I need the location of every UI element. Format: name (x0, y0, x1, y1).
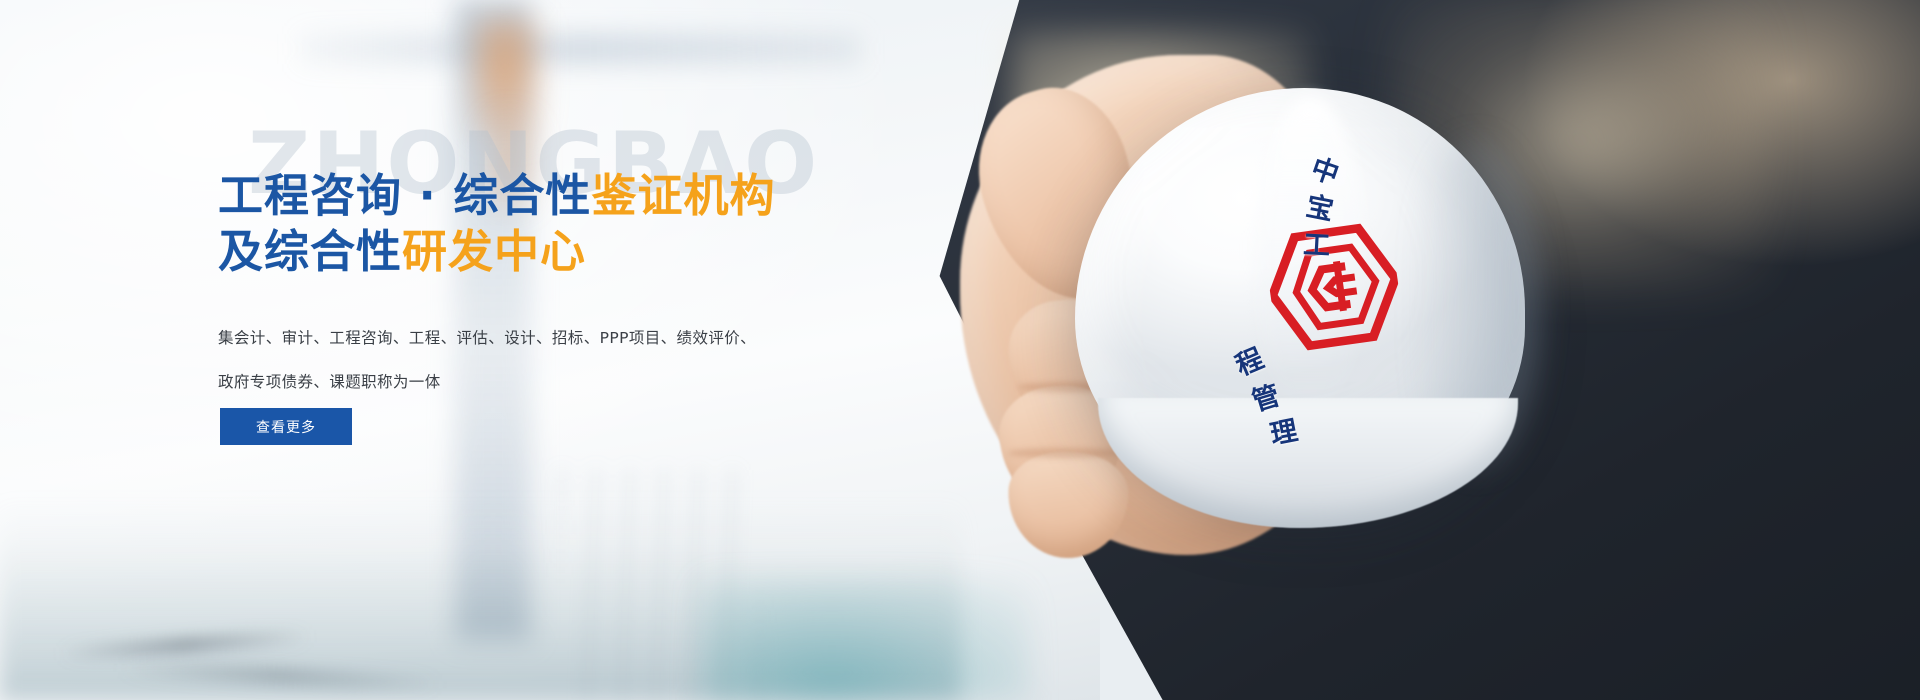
headline-line-1-orange: 鉴证机构 (591, 169, 775, 222)
hat-char-1: 宝 (1303, 184, 1337, 227)
view-more-button[interactable]: 查看更多 (220, 408, 352, 445)
hat-char-5: 理 (1266, 408, 1300, 451)
headline-line-2: 及综合性研发中心 (218, 224, 775, 280)
subtitle-line-2: 政府专项债券、课题职称为一体 (218, 360, 756, 404)
headline-line-1-blue: 工程咨询 · 综合性 (218, 169, 591, 222)
headline-line-2-blue: 及综合性 (218, 225, 402, 278)
headline-line-1: 工程咨询 · 综合性鉴证机构 (218, 168, 775, 224)
hero-content: ZHONGBAO 工程咨询 · 综合性鉴证机构 及综合性研发中心 集会计、审计、… (0, 0, 900, 700)
hero-banner: 中 宝 工 程 管 理 ZHONGBAO 工程咨询 · 综合性鉴证机构 及综合性… (0, 0, 1920, 700)
subtitle: 集会计、审计、工程咨询、工程、评估、设计、招标、PPP项目、绩效评价、 政府专项… (218, 316, 756, 404)
headline-line-2-orange: 研发中心 (402, 225, 586, 278)
finger-crease-2 (1008, 448, 1120, 458)
hat-char-2: 工 (1302, 222, 1331, 262)
headline: 工程咨询 · 综合性鉴证机构 及综合性研发中心 (218, 168, 775, 280)
subtitle-line-1: 集会计、审计、工程咨询、工程、评估、设计、招标、PPP项目、绩效评价、 (218, 316, 756, 360)
